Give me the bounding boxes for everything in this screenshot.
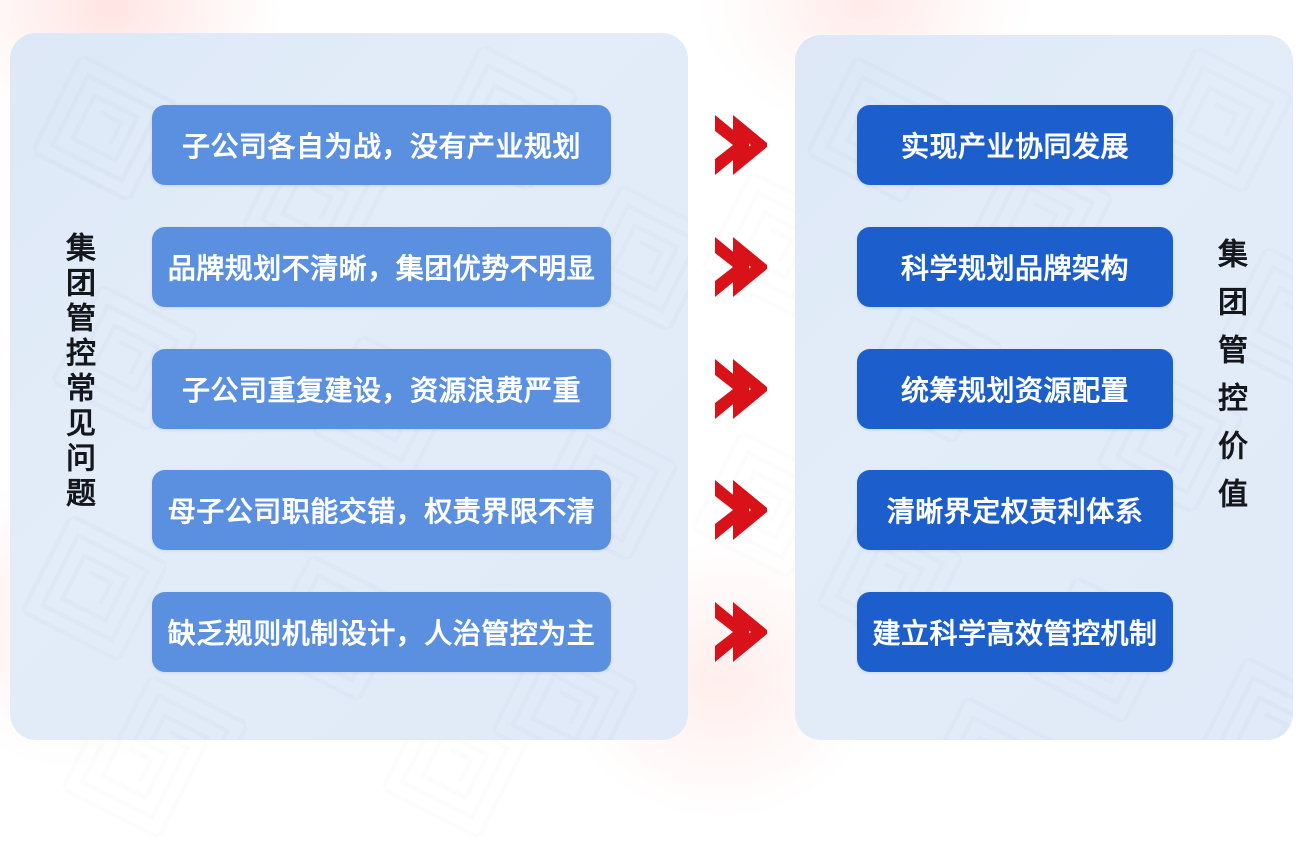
- diagram-canvas: 集团管控常见问题 集团管控价值 子公司各自为战，没有产业规划 品牌规划不清晰，集…: [0, 0, 1300, 768]
- left-panel-side-label: 集团管控常见问题: [62, 232, 92, 512]
- value-item-1[interactable]: 实现产业协同发展: [857, 105, 1173, 185]
- problem-item-5[interactable]: 缺乏规则机制设计，人治管控为主: [152, 592, 611, 672]
- value-item-4[interactable]: 清晰界定权责利体系: [857, 470, 1173, 550]
- value-item-3[interactable]: 统筹规划资源配置: [857, 349, 1173, 429]
- right-panel-side-label: 集团管控价值: [1214, 238, 1244, 526]
- problem-item-4[interactable]: 母子公司职能交错，权责界限不清: [152, 470, 611, 550]
- problem-item-3[interactable]: 子公司重复建设，资源浪费严重: [152, 349, 611, 429]
- chevron-right-icon: [713, 478, 769, 542]
- chevron-right-icon: [713, 113, 769, 177]
- problem-item-2[interactable]: 品牌规划不清晰，集团优势不明显: [152, 227, 611, 307]
- chevron-right-icon: [713, 235, 769, 299]
- problem-item-1[interactable]: 子公司各自为战，没有产业规划: [152, 105, 611, 185]
- chevron-right-icon: [713, 600, 769, 664]
- value-item-5[interactable]: 建立科学高效管控机制: [857, 592, 1173, 672]
- diamond-seal-watermark: [1175, 635, 1293, 740]
- value-item-2[interactable]: 科学规划品牌架构: [857, 227, 1173, 307]
- chevron-right-icon: [713, 357, 769, 421]
- diamond-seal-watermark: [895, 675, 1084, 740]
